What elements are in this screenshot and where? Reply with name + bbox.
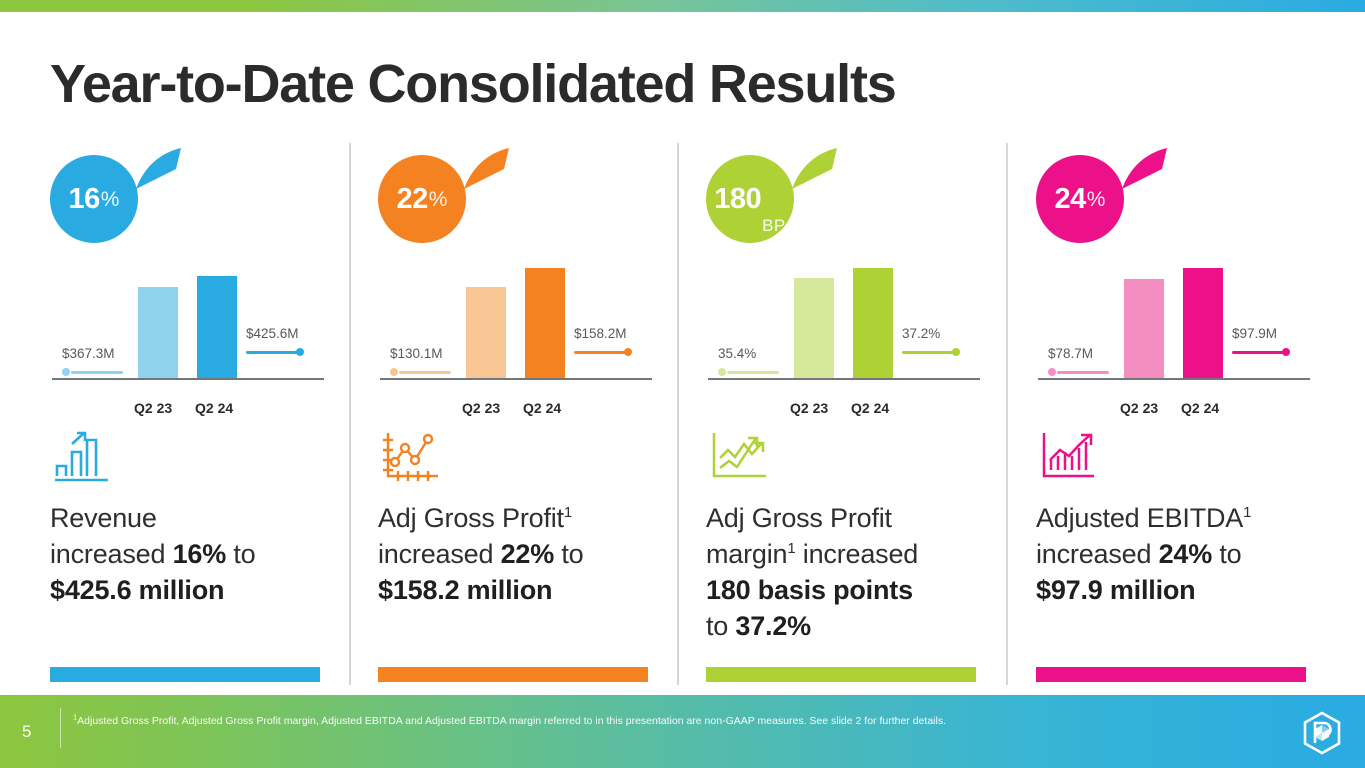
value-callout-q2-24: 37.2%: [902, 326, 940, 358]
category-label-q2-23: Q2 23: [462, 400, 500, 416]
chart-baseline: [708, 378, 980, 380]
badge-adj-gross-profit-margin: 180 BP: [706, 145, 846, 235]
copy-line-1: Revenue: [50, 503, 157, 533]
slide-footer: [0, 695, 1365, 768]
badge-value: 180: [714, 185, 761, 214]
copy-line-2-bold: 24%: [1159, 539, 1212, 569]
copy-line-2-post: to: [226, 539, 255, 569]
copy-line-2-post: to: [554, 539, 583, 569]
page-number: 5: [22, 722, 31, 742]
badge-circle: 180 BP: [706, 155, 794, 243]
growth-arrow-icon: [1120, 145, 1180, 205]
badge-unit: %: [429, 189, 448, 210]
copy-line-2-bold: 16%: [173, 539, 226, 569]
metric-panel-adjusted-ebitda: 24 % Q2 23 Q2 24 $78.7M $97.9M: [1036, 140, 1362, 688]
footnote-ref: 1: [787, 540, 795, 557]
badge-adjusted-ebitda: 24 %: [1036, 145, 1176, 235]
callout-leader-line: [246, 346, 299, 358]
footer-separator: [60, 708, 61, 748]
panel-accent-bar: [378, 667, 648, 682]
bar-chart-up-arrow-icon: [52, 430, 116, 482]
value-callout-q2-23: 35.4%: [718, 346, 756, 378]
value-label: $130.1M: [390, 346, 443, 361]
copy-line-4-pre: to: [706, 611, 735, 641]
badge-value: 22: [397, 185, 428, 214]
panel-accent-bar: [50, 667, 320, 682]
slide: Year-to-Date Consolidated Results 16 % Q…: [0, 0, 1365, 768]
copy-line-2-post: increased: [796, 539, 919, 569]
badge-value: 24: [1055, 185, 1086, 214]
metric-panel-adj-gross-profit: 22 % Q2 23 Q2 24 $130.1M $158.2M: [378, 140, 704, 688]
panel-copy-revenue: Revenue increased 16% to $425.6 million: [50, 500, 362, 608]
callout-leader-line: [718, 366, 756, 378]
footnote-ref: 1: [1243, 504, 1251, 521]
category-label-q2-24: Q2 24: [851, 400, 889, 416]
copy-line-3-bold: 180 basis points: [706, 575, 913, 605]
value-label: 35.4%: [718, 346, 756, 361]
bar-chart-adjusted-ebitda: Q2 23 Q2 24 $78.7M $97.9M: [1036, 265, 1362, 400]
panel-accent-bar: [1036, 667, 1306, 682]
category-label-q2-23: Q2 23: [790, 400, 828, 416]
bar-q2-23: [794, 278, 834, 378]
growth-arrow-icon: [790, 145, 850, 205]
badge-circle: 24 %: [1036, 155, 1124, 243]
company-hexagon-p-logo: [1298, 709, 1346, 757]
panel-copy-adjusted-ebitda: Adjusted EBITDA1 increased 24% to $97.9 …: [1036, 500, 1348, 608]
copy-line-3-bold: $425.6 million: [50, 575, 224, 605]
panel-accent-bar: [706, 667, 976, 682]
category-label-q2-23: Q2 23: [1120, 400, 1158, 416]
bar-q2-24: [1183, 268, 1223, 378]
category-label-q2-24: Q2 24: [523, 400, 561, 416]
category-label-q2-24: Q2 24: [1181, 400, 1219, 416]
bar-q2-24: [525, 268, 565, 378]
growth-arrow-icon: [462, 145, 522, 205]
bar-q2-24: [197, 276, 237, 378]
bar-q2-24: [853, 268, 893, 378]
callout-leader-line: [574, 346, 627, 358]
copy-line-2-bold: 22%: [501, 539, 554, 569]
copy-line-1: Adj Gross Profit: [378, 503, 564, 533]
callout-leader-line: [62, 366, 115, 378]
bar-chart-adj-gross-profit-margin: Q2 23 Q2 24 35.4% 37.2%: [706, 265, 1032, 400]
callout-leader-line: [902, 346, 940, 358]
value-label: $367.3M: [62, 346, 115, 361]
chart-baseline: [380, 378, 652, 380]
metric-panel-adj-gross-profit-margin: 180 BP Q2 23 Q2 24 35.4% 37.2%: [706, 140, 1032, 688]
bar-q2-23: [138, 287, 178, 378]
badge-value: 16: [69, 185, 100, 214]
panel-copy-adj-gross-profit: Adj Gross Profit1 increased 22% to $158.…: [378, 500, 690, 608]
value-label: $78.7M: [1048, 346, 1093, 361]
callout-leader-line: [1048, 366, 1093, 378]
badge-circle: 16 %: [50, 155, 138, 243]
value-callout-q2-23: $78.7M: [1048, 346, 1093, 378]
value-label: $425.6M: [246, 326, 299, 341]
copy-line-2-pre: increased: [50, 539, 173, 569]
copy-line-1: Adjusted EBITDA: [1036, 503, 1243, 533]
badge-unit: BP: [762, 217, 786, 234]
copy-line-2-pre: margin: [706, 539, 787, 569]
growth-arrow-icon: [134, 145, 194, 205]
copy-line-2-post: to: [1212, 539, 1241, 569]
copy-line-1: Adj Gross Profit: [706, 503, 892, 533]
chart-baseline: [1038, 378, 1310, 380]
copy-line-2-pre: increased: [1036, 539, 1159, 569]
value-label: $97.9M: [1232, 326, 1277, 341]
copy-line-2-pre: increased: [378, 539, 501, 569]
copy-line-4-bold: 37.2%: [735, 611, 811, 641]
bar-q2-23: [466, 287, 506, 378]
bar-chart-adj-gross-profit: Q2 23 Q2 24 $130.1M $158.2M: [378, 265, 704, 400]
line-chart-arrows-icon: [708, 430, 772, 482]
bar-chart-revenue: Q2 23 Q2 24 $367.3M $425.6M: [50, 265, 376, 400]
callout-leader-line: [1232, 346, 1277, 358]
callout-leader-line: [390, 366, 443, 378]
metric-panels: 16 % Q2 23 Q2 24 $367.3M $425.6M: [0, 0, 1365, 768]
badge-circle: 22 %: [378, 155, 466, 243]
category-label-q2-23: Q2 23: [134, 400, 172, 416]
chart-baseline: [52, 378, 324, 380]
value-callout-q2-23: $367.3M: [62, 346, 115, 378]
panel-copy-adj-gross-profit-margin: Adj Gross Profit margin1 increased 180 b…: [706, 500, 1018, 644]
value-callout-q2-24: $97.9M: [1232, 326, 1277, 358]
badge-adj-gross-profit: 22 %: [378, 145, 518, 235]
copy-line-3-bold: $158.2 million: [378, 575, 552, 605]
bar-q2-23: [1124, 279, 1164, 378]
metric-panel-revenue: 16 % Q2 23 Q2 24 $367.3M $425.6M: [50, 140, 376, 688]
badge-revenue: 16 %: [50, 145, 190, 235]
footnote-text: 1Adjusted Gross Profit, Adjusted Gross P…: [73, 714, 1253, 728]
badge-unit: %: [101, 189, 120, 210]
copy-line-3-bold: $97.9 million: [1036, 575, 1195, 605]
value-label: $158.2M: [574, 326, 627, 341]
badge-unit: %: [1087, 189, 1106, 210]
value-callout-q2-24: $425.6M: [246, 326, 299, 358]
scatter-line-chart-icon: [380, 430, 444, 482]
value-callout-q2-23: $130.1M: [390, 346, 443, 378]
footnote-body: Adjusted Gross Profit, Adjusted Gross Pr…: [77, 715, 946, 727]
value-callout-q2-24: $158.2M: [574, 326, 627, 358]
bar-chart-trend-up-icon: [1038, 430, 1102, 482]
footnote-ref: 1: [564, 504, 572, 521]
category-label-q2-24: Q2 24: [195, 400, 233, 416]
value-label: 37.2%: [902, 326, 940, 341]
